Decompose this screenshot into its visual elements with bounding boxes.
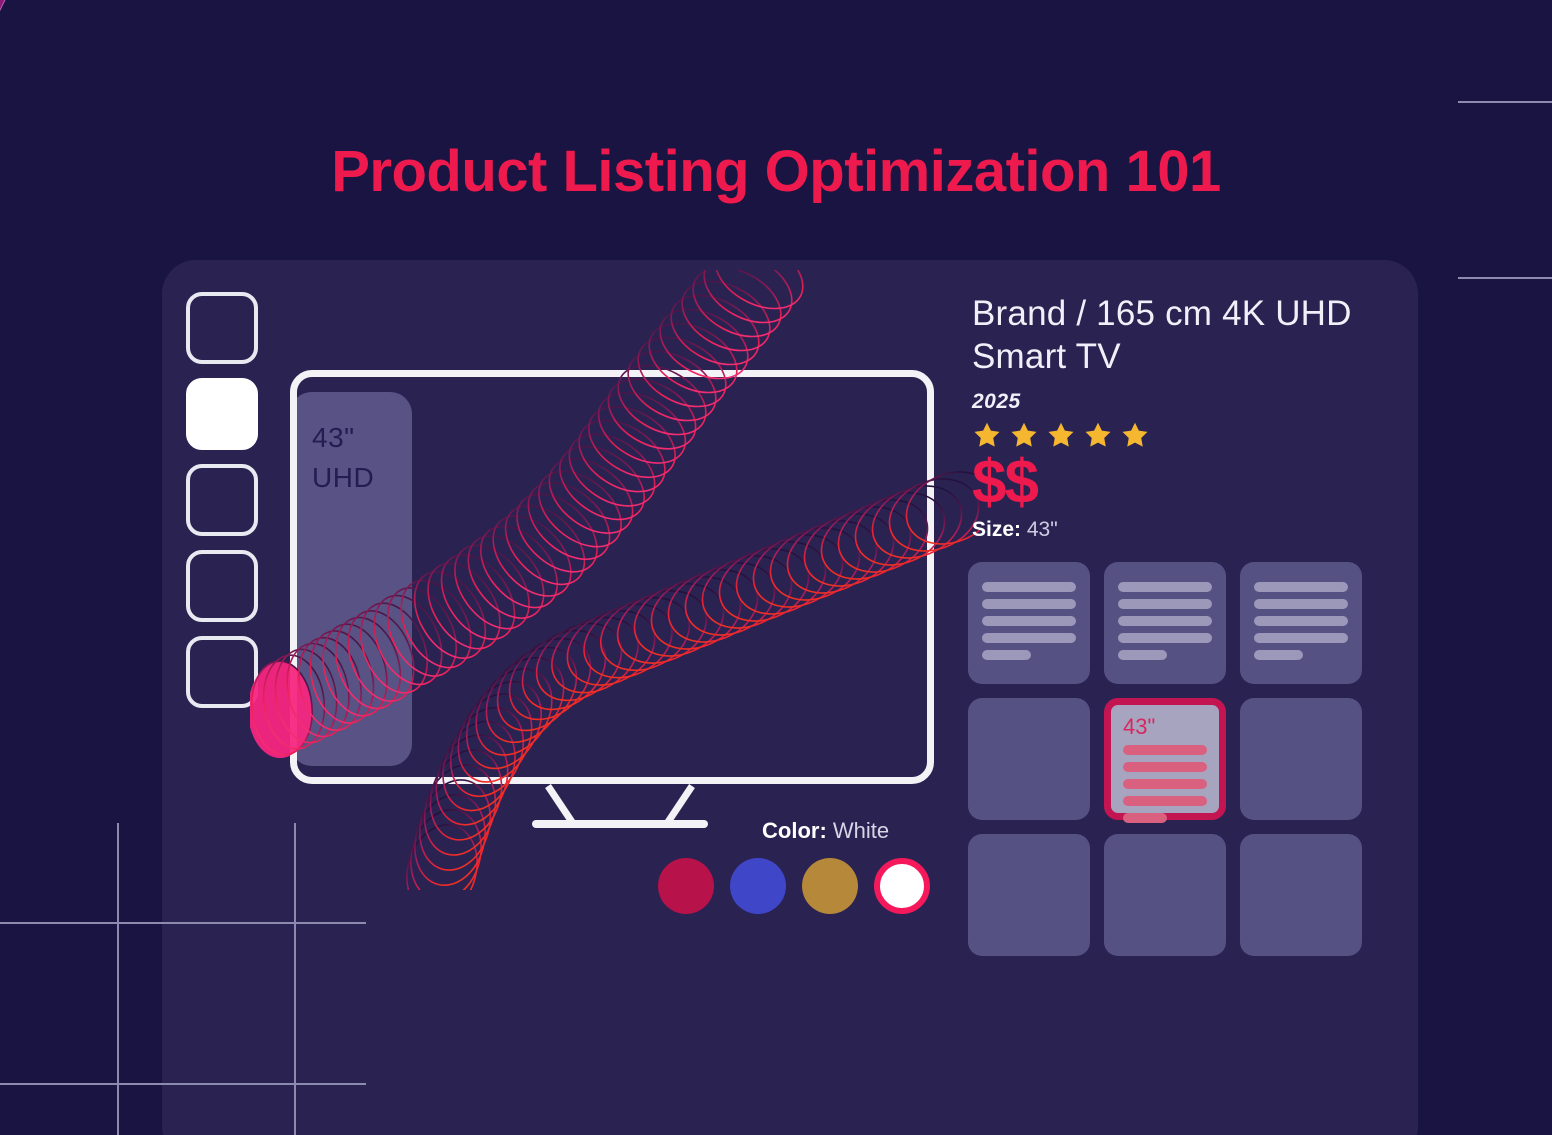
product-year: 2025 [972,390,1372,414]
tv-spec-size: 43" [312,418,374,458]
thumbnail-5[interactable] [186,636,258,708]
card-line [982,582,1076,592]
card-line [1123,745,1207,755]
grid-line-top-right-1 [1458,101,1552,103]
variant-card-3[interactable] [1240,562,1362,684]
tv-stand-icon [520,782,720,832]
swatch-gold[interactable] [802,858,858,914]
card-line [1254,599,1348,609]
card-line [1254,582,1348,592]
color-label-key: Color: [762,818,827,843]
variant-card-5-selected[interactable]: 43" [1104,698,1226,820]
thumbnail-2-active[interactable] [186,378,258,450]
color-swatch-row [658,858,930,914]
variant-card-8[interactable] [1104,834,1226,956]
card-line [1123,813,1167,823]
swatch-blue[interactable] [730,858,786,914]
thumbnail-4[interactable] [186,550,258,622]
star-icon [1046,420,1076,450]
tv-spec-resolution: UHD [312,458,374,498]
card-line [1123,762,1207,772]
product-info: Brand / 165 cm 4K UHD Smart TV 2025 $$ S… [972,292,1372,542]
size-label: Size: [972,518,1021,541]
star-icon [1009,420,1039,450]
thumbnail-rail [186,292,262,708]
star-icon [972,420,1002,450]
rating-stars [972,420,1372,450]
swatch-white-selected[interactable] [874,858,930,914]
variant-card-grid: 43" [968,562,1372,956]
card-line [1123,796,1207,806]
page-title: Product Listing Optimization 101 [0,138,1552,205]
tv-frame-outline [290,370,934,784]
swatch-crimson[interactable] [658,858,714,914]
star-icon [1120,420,1150,450]
product-title: Brand / 165 cm 4K UHD Smart TV [972,292,1372,378]
card-line [982,633,1076,643]
color-label-value: White [833,818,889,843]
card-line [1123,779,1207,789]
card-line [1118,599,1212,609]
card-line [1254,633,1348,643]
card-line [1254,650,1303,660]
variant-card-4[interactable] [968,698,1090,820]
card-line [1118,650,1167,660]
card-line [982,650,1031,660]
size-value: 43" [1027,518,1058,541]
variant-card-size-label: 43" [1123,715,1207,739]
star-icon [1083,420,1113,450]
variant-card-7[interactable] [968,834,1090,956]
grid-line-bottom-left-v1 [117,823,119,1135]
poster-canvas: Product Listing Optimization 101 43" UHD [0,0,1552,1135]
variant-card-2[interactable] [1104,562,1226,684]
tv-spec-text: 43" UHD [312,418,374,498]
thumbnail-3[interactable] [186,464,258,536]
price-indicator: $$ [972,452,1372,514]
color-label: Color: White [762,818,889,844]
variant-card-9[interactable] [1240,834,1362,956]
variant-card-1[interactable] [968,562,1090,684]
card-line [1118,582,1212,592]
card-line [982,616,1076,626]
size-line: Size: 43" [972,518,1372,542]
card-line [1118,633,1212,643]
grid-line-top-right-2 [1458,277,1552,279]
card-line [1118,616,1212,626]
variant-card-6[interactable] [1240,698,1362,820]
card-line [1254,616,1348,626]
thumbnail-1[interactable] [186,292,258,364]
card-line [982,599,1076,609]
